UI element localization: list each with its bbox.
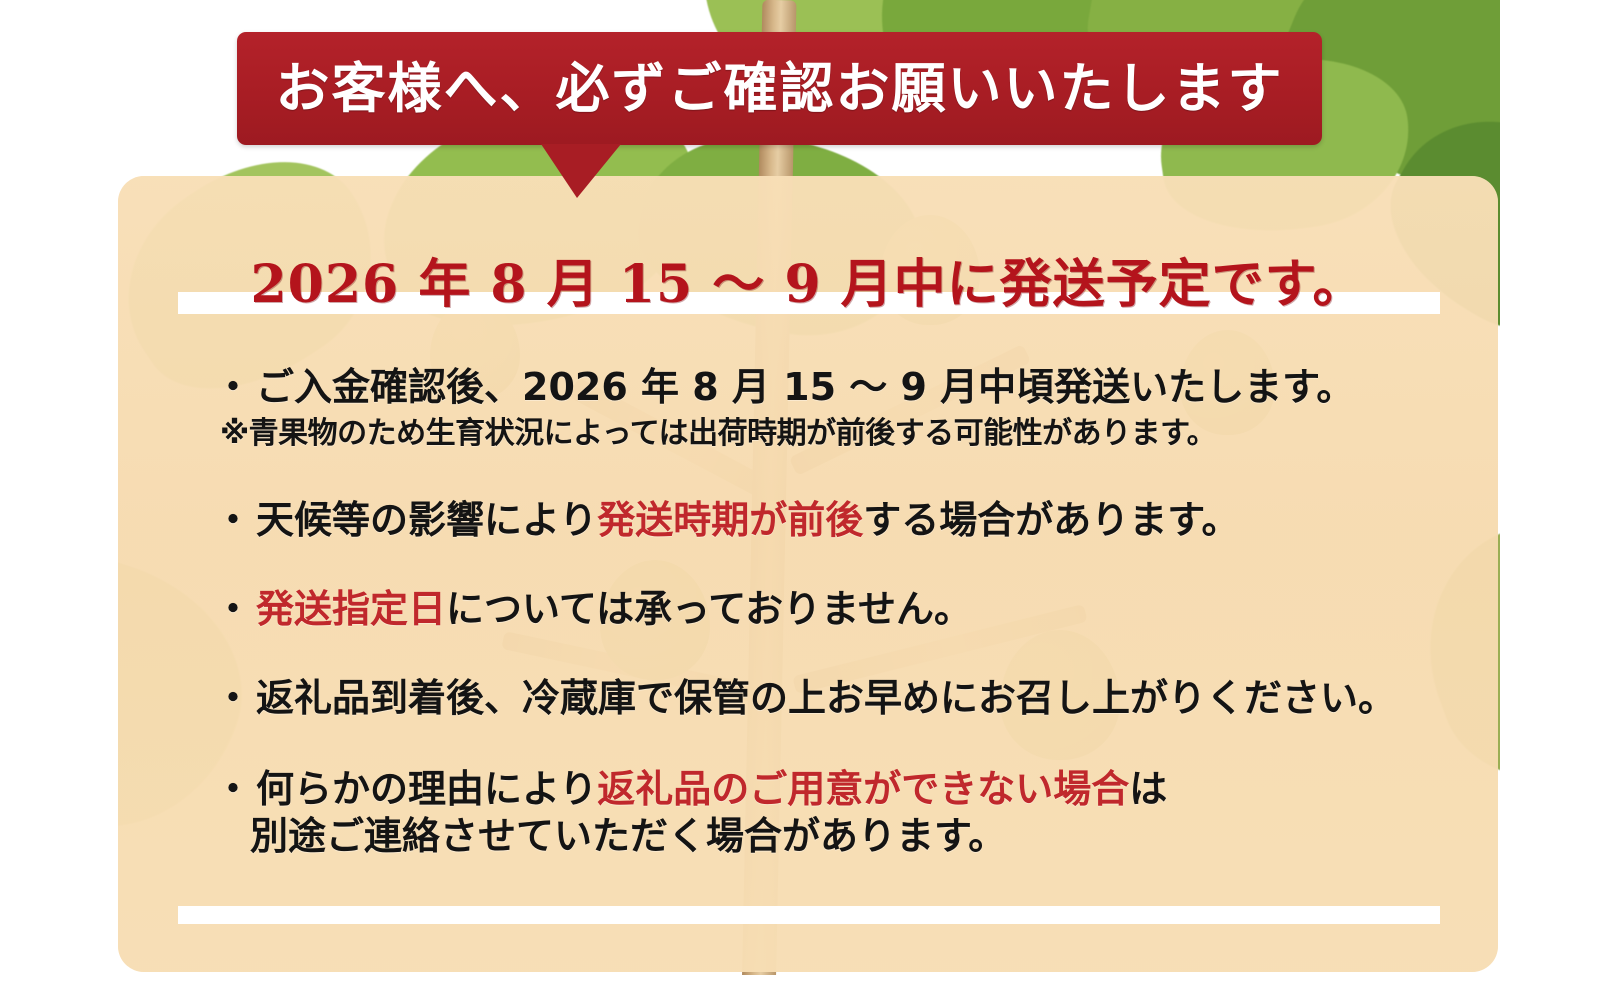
bullet-text: ご入金確認後、2026 年 8 月 15 〜 9 月中頃発送いたします。: [256, 365, 1354, 409]
bullet-text: 返礼品到着後、冷蔵庫で保管の上お早めにお召し上がりください。: [256, 676, 1396, 720]
bullet-text-post: する場合があります。: [863, 498, 1239, 542]
header-ribbon: お客様へ、必ずご確認お願いいたします: [237, 32, 1322, 145]
bullet-item-payment-confirmation: ・ご入金確認後、2026 年 8 月 15 〜 9 月中頃発送いたします。: [214, 364, 1484, 411]
bullet-item-refrigerate-on-arrival: ・返礼品到着後、冷蔵庫で保管の上お早めにお召し上がりください。: [214, 675, 1484, 722]
bullet-marker: ・: [214, 676, 252, 720]
bullet-marker: ・: [214, 587, 252, 631]
header-ribbon-label: お客様へ、必ずご確認お願いいたします: [276, 62, 1284, 116]
bullet-text-highlight: 発送時期が前後: [597, 498, 863, 542]
bullet-item-no-date-specification: ・発送指定日については承っておりません。: [214, 586, 1484, 633]
bullet-note-produce-disclaimer: ※青果物のため生育状況によっては出荷時期が前後する可能性があります。: [220, 415, 1484, 453]
notice-bullet-list: ・ご入金確認後、2026 年 8 月 15 〜 9 月中頃発送いたします。 ※青…: [214, 364, 1484, 860]
bullet-item-unavailable-gift-line2: 別途ご連絡させていただく場合があります。: [214, 813, 1484, 860]
page-margin-right: [1500, 0, 1613, 1000]
spacer: [214, 633, 1484, 675]
bullet-text-pre: 天候等の影響により: [256, 498, 597, 542]
bullet-text-post: は: [1129, 767, 1167, 811]
footer-divider-bar: [178, 906, 1440, 924]
bullet-text-pre: 何らかの理由により: [256, 767, 597, 811]
spacer: [214, 722, 1484, 766]
speech-bubble-tail: [541, 144, 621, 198]
shipping-period-headline: 2026 年 8 月 15 〜 9 月中に発送予定です。: [118, 242, 1498, 317]
spacer: [214, 544, 1484, 586]
notice-graphic: 2026 年 8 月 15 〜 9 月中に発送予定です。 ・ご入金確認後、202…: [0, 0, 1613, 1000]
bullet-item-unavailable-gift: ・何らかの理由により返礼品のご用意ができない場合は: [214, 766, 1484, 813]
spacer: [214, 453, 1484, 497]
bullet-marker: ・: [214, 767, 252, 811]
bullet-marker: ・: [214, 498, 252, 542]
page-margin-left: [0, 0, 118, 1000]
notice-card: 2026 年 8 月 15 〜 9 月中に発送予定です。 ・ご入金確認後、202…: [118, 176, 1498, 972]
bullet-text-highlight: 発送指定日: [256, 587, 446, 631]
page-margin-bottom: [0, 975, 1613, 1000]
bullet-marker: ・: [214, 365, 252, 409]
bullet-text-post: については承っておりません。: [446, 587, 972, 631]
bullet-item-weather-delay: ・天候等の影響により発送時期が前後する場合があります。: [214, 497, 1484, 544]
bullet-text-highlight: 返礼品のご用意ができない場合: [597, 767, 1129, 811]
